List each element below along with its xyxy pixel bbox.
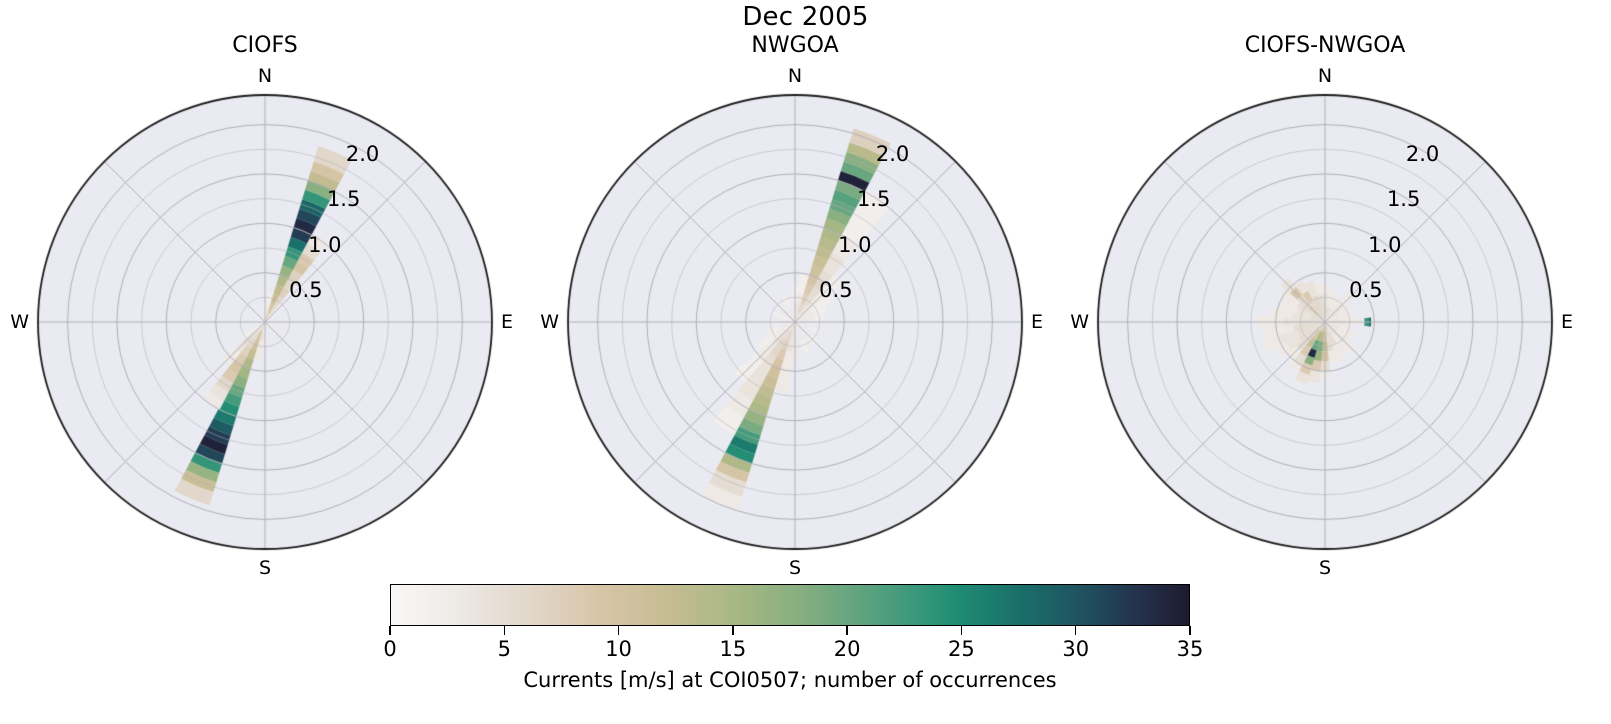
colorbar-tick-label: 10 (605, 637, 632, 661)
colorbar-tick (618, 626, 619, 635)
direction-label-s: S (259, 557, 271, 579)
direction-label-s: S (789, 557, 801, 579)
polar-panel-nwgoa: NWGOANESW0.51.01.52.0 (508, 0, 1082, 600)
radial-tick-label: 1.0 (308, 233, 341, 257)
colorbar-label: Currents [m/s] at COI0507; number of occ… (390, 668, 1190, 692)
radial-tick-label: 1.5 (857, 187, 890, 211)
colorbar-gradient (390, 584, 1190, 626)
colorbar-tick-label: 0 (383, 637, 396, 661)
radial-tick-label: 0.5 (289, 278, 322, 302)
colorbar[interactable]: 05101520253035 Currents [m/s] at COI0507… (390, 584, 1190, 626)
figure-canvas: Dec 2005 CIOFSNESW0.51.01.52.0NWGOANESW0… (0, 0, 1611, 724)
radial-tick-label: 1.0 (838, 233, 871, 257)
direction-label-w: W (10, 311, 29, 333)
colorbar-tick-label: 20 (834, 637, 861, 661)
radial-tick-label: 0.5 (1349, 278, 1382, 302)
radial-tick-label: 0.5 (819, 278, 852, 302)
direction-label-n: N (788, 65, 802, 87)
radial-tick-label: 1.5 (327, 187, 360, 211)
polar-rose-plot[interactable] (1038, 35, 1611, 609)
direction-label-s: S (1319, 557, 1331, 579)
colorbar-tick-label: 25 (948, 637, 975, 661)
colorbar-tick (732, 626, 733, 635)
colorbar-tick (1075, 626, 1076, 635)
direction-label-n: N (258, 65, 272, 87)
direction-label-e: E (1561, 311, 1573, 333)
colorbar-tick (389, 626, 390, 635)
colorbar-tick-label: 5 (498, 637, 511, 661)
colorbar-tick (1189, 626, 1190, 635)
colorbar-tick (846, 626, 847, 635)
direction-label-w: W (1070, 311, 1089, 333)
radial-tick-label: 2.0 (1406, 142, 1439, 166)
direction-label-w: W (540, 311, 559, 333)
colorbar-tick (961, 626, 962, 635)
direction-label-n: N (1318, 65, 1332, 87)
radial-tick-label: 2.0 (876, 142, 909, 166)
radial-tick-label: 1.5 (1387, 187, 1420, 211)
radial-tick-label: 1.0 (1368, 233, 1401, 257)
colorbar-tick (504, 626, 505, 635)
polar-rose-plot[interactable] (508, 35, 1082, 609)
polar-panel-ciofs: CIOFSNESW0.51.01.52.0 (0, 0, 552, 600)
radial-tick-label: 2.0 (346, 142, 379, 166)
polar-rose-plot[interactable] (0, 35, 552, 609)
colorbar-tick-label: 15 (719, 637, 746, 661)
colorbar-tick-label: 30 (1062, 637, 1089, 661)
polar-panel-ciofs-nwgoa: CIOFS-NWGOANESW0.51.01.52.0 (1038, 0, 1611, 600)
colorbar-tick-label: 35 (1177, 637, 1204, 661)
